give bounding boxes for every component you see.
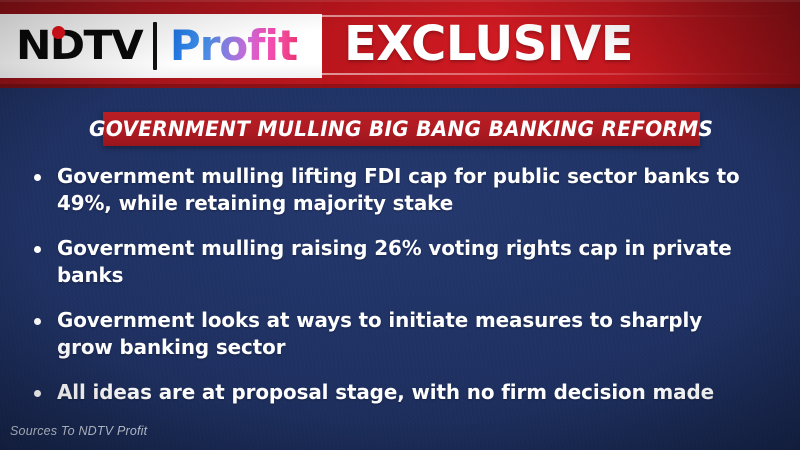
bullet-dot-icon [34, 174, 41, 181]
bullet-text: All ideas are at proposal stage, with no… [57, 379, 714, 406]
headline-banner: GOVERNMENT MULLING BIG BANG BANKING REFO… [103, 112, 700, 146]
list-item: Government mulling lifting FDI cap for p… [30, 163, 778, 217]
bullet-dot-icon [34, 318, 41, 325]
tag-highlight-line-bottom [322, 73, 800, 75]
ndtv-wordmark: NDTV [16, 26, 142, 66]
exclusive-tag-block: EXCLUSIVE [322, 0, 800, 88]
list-item: Government mulling raising 26% voting ri… [30, 235, 778, 289]
bullet-dot-icon [34, 390, 41, 397]
exclusive-label: EXCLUSIVE [344, 20, 633, 68]
logo-divider [153, 22, 157, 70]
headline-title: GOVERNMENT MULLING BIG BANG BANKING REFO… [89, 117, 713, 141]
brand-logo-group: NDTV Profit [16, 14, 297, 78]
source-attribution: Sources To NDTV Profit [10, 424, 147, 438]
bullet-text: Government mulling raising 26% voting ri… [57, 235, 756, 289]
news-graphic-slide: NDTV Profit EXCLUSIVE GOVERNMENT MULLING… [0, 0, 800, 450]
profit-wordmark: Profit [170, 25, 297, 67]
bullet-dot-icon [34, 246, 41, 253]
list-item: All ideas are at proposal stage, with no… [30, 379, 778, 406]
channel-header-bar: NDTV Profit EXCLUSIVE [0, 0, 800, 88]
ndtv-red-dot-icon [52, 26, 65, 39]
list-item: Government looks at ways to initiate mea… [30, 307, 778, 361]
bullet-list: Government mulling lifting FDI cap for p… [30, 163, 778, 424]
bullet-text: Government looks at ways to initiate mea… [57, 307, 756, 361]
bullet-text: Government mulling lifting FDI cap for p… [57, 163, 756, 217]
